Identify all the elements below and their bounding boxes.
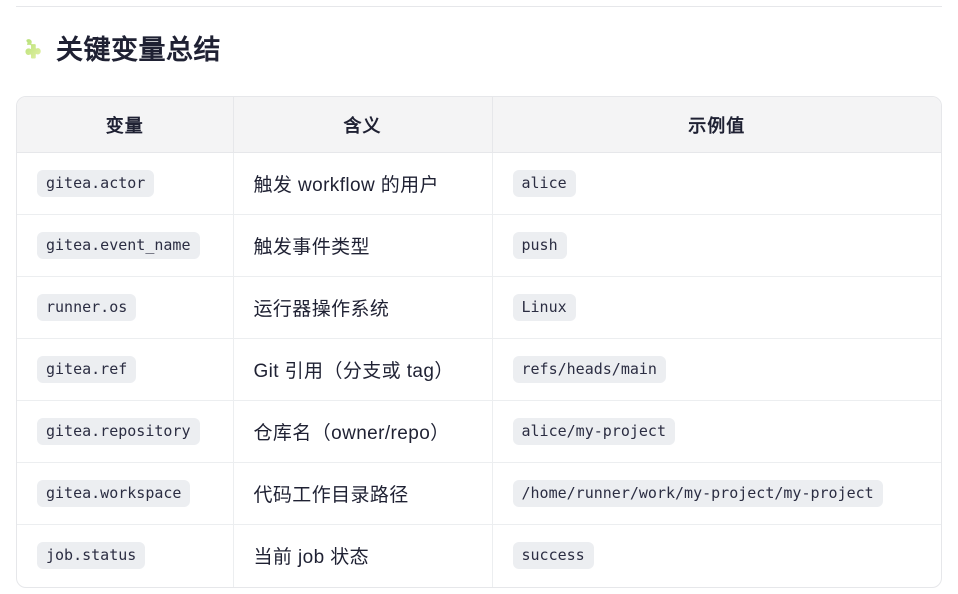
- example-code-chip: refs/heads/main: [513, 356, 666, 383]
- cell-example: success: [492, 525, 941, 587]
- table-header-row: 变量 含义 示例值: [17, 97, 941, 153]
- variable-code-chip: job.status: [37, 542, 145, 569]
- cell-variable: job.status: [17, 525, 233, 587]
- table-row: job.status 当前 job 状态 success: [17, 525, 941, 587]
- example-code-chip: push: [513, 232, 567, 259]
- column-header-meaning: 含义: [233, 97, 492, 153]
- table-row: gitea.repository 仓库名（owner/repo） alice/m…: [17, 401, 941, 463]
- column-header-variable: 变量: [17, 97, 233, 153]
- cell-example: alice/my-project: [492, 401, 941, 463]
- cell-example: alice: [492, 153, 941, 215]
- cell-variable: gitea.actor: [17, 153, 233, 215]
- table-row: gitea.event_name 触发事件类型 push: [17, 215, 941, 277]
- puzzle-piece-icon: [18, 37, 45, 64]
- cell-variable: runner.os: [17, 277, 233, 339]
- cell-meaning: Git 引用（分支或 tag）: [233, 339, 492, 401]
- table-row: gitea.ref Git 引用（分支或 tag） refs/heads/mai…: [17, 339, 941, 401]
- cell-meaning: 运行器操作系统: [233, 277, 492, 339]
- cell-example: /home/runner/work/my-project/my-project: [492, 463, 941, 525]
- section-heading: 关键变量总结: [18, 30, 221, 70]
- cell-meaning: 触发事件类型: [233, 215, 492, 277]
- variables-table-container: 变量 含义 示例值 gitea.actor 触发 workflow 的用户 al…: [16, 96, 942, 588]
- example-code-chip: /home/runner/work/my-project/my-project: [513, 480, 883, 507]
- cell-meaning: 代码工作目录路径: [233, 463, 492, 525]
- variable-code-chip: runner.os: [37, 294, 136, 321]
- cell-variable: gitea.ref: [17, 339, 233, 401]
- cell-meaning: 仓库名（owner/repo）: [233, 401, 492, 463]
- example-code-chip: success: [513, 542, 594, 569]
- cell-example: Linux: [492, 277, 941, 339]
- cell-variable: gitea.repository: [17, 401, 233, 463]
- variable-code-chip: gitea.actor: [37, 170, 154, 197]
- column-header-example: 示例值: [492, 97, 941, 153]
- page-title: 关键变量总结: [56, 37, 221, 64]
- table-row: gitea.workspace 代码工作目录路径 /home/runner/wo…: [17, 463, 941, 525]
- page-root: 关键变量总结 变量 含义 示例值 gitea.actor 触发 workflow…: [0, 0, 958, 594]
- variables-table: 变量 含义 示例值 gitea.actor 触发 workflow 的用户 al…: [17, 97, 941, 587]
- variable-code-chip: gitea.workspace: [37, 480, 190, 507]
- cell-example: push: [492, 215, 941, 277]
- cell-example: refs/heads/main: [492, 339, 941, 401]
- top-divider: [16, 6, 942, 7]
- table-body: gitea.actor 触发 workflow 的用户 alice gitea.…: [17, 153, 941, 587]
- cell-variable: gitea.workspace: [17, 463, 233, 525]
- example-code-chip: Linux: [513, 294, 576, 321]
- variable-code-chip: gitea.event_name: [37, 232, 200, 259]
- variable-code-chip: gitea.ref: [37, 356, 136, 383]
- table-row: runner.os 运行器操作系统 Linux: [17, 277, 941, 339]
- example-code-chip: alice/my-project: [513, 418, 676, 445]
- cell-variable: gitea.event_name: [17, 215, 233, 277]
- variable-code-chip: gitea.repository: [37, 418, 200, 445]
- table-row: gitea.actor 触发 workflow 的用户 alice: [17, 153, 941, 215]
- example-code-chip: alice: [513, 170, 576, 197]
- cell-meaning: 触发 workflow 的用户: [233, 153, 492, 215]
- cell-meaning: 当前 job 状态: [233, 525, 492, 587]
- table-header: 变量 含义 示例值: [17, 97, 941, 153]
